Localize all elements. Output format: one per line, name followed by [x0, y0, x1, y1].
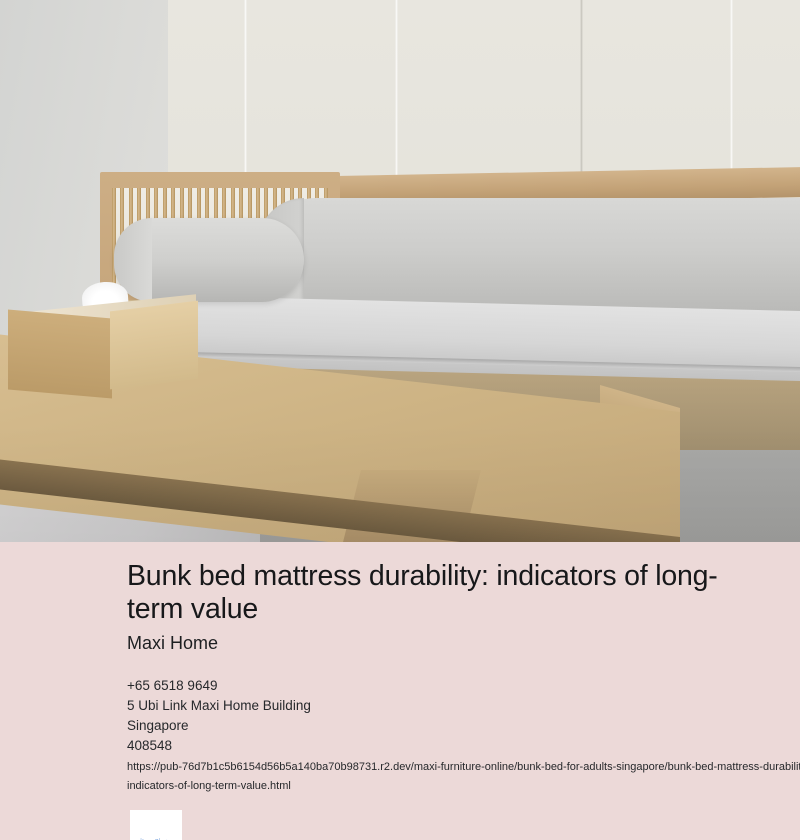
tissue-box-front [8, 309, 112, 398]
info-panel: Bunk bed mattress durability: indicators… [0, 542, 800, 840]
contact-phone: +65 6518 9649 [127, 676, 727, 696]
contact-postal-code: 408548 [127, 736, 727, 756]
hero-photo [0, 0, 800, 542]
brand-subtitle: Maxi Home [127, 632, 218, 654]
page-root: Bunk bed mattress durability: indicators… [0, 0, 800, 840]
grey-bolster-cushion [258, 198, 800, 314]
contact-address: 5 Ubi Link Maxi Home Building [127, 696, 727, 716]
page-url-line-2: indicators-of-long-term-value.html [127, 777, 800, 796]
wooden-tissue-box [8, 298, 198, 394]
contact-country: Singapore [127, 716, 727, 736]
page-url[interactable]: https://pub-76d7b1c5b6154d56b5a140ba70b9… [127, 758, 800, 796]
page-title: Bunk bed mattress durability: indicators… [127, 560, 727, 626]
brand-logo: Furniture Singapore [130, 810, 182, 840]
tissue-box-side [110, 301, 198, 390]
page-url-line-1: https://pub-76d7b1c5b6154d56b5a140ba70b9… [127, 758, 800, 777]
contact-block: +65 6518 9649 5 Ubi Link Maxi Home Build… [127, 676, 727, 756]
